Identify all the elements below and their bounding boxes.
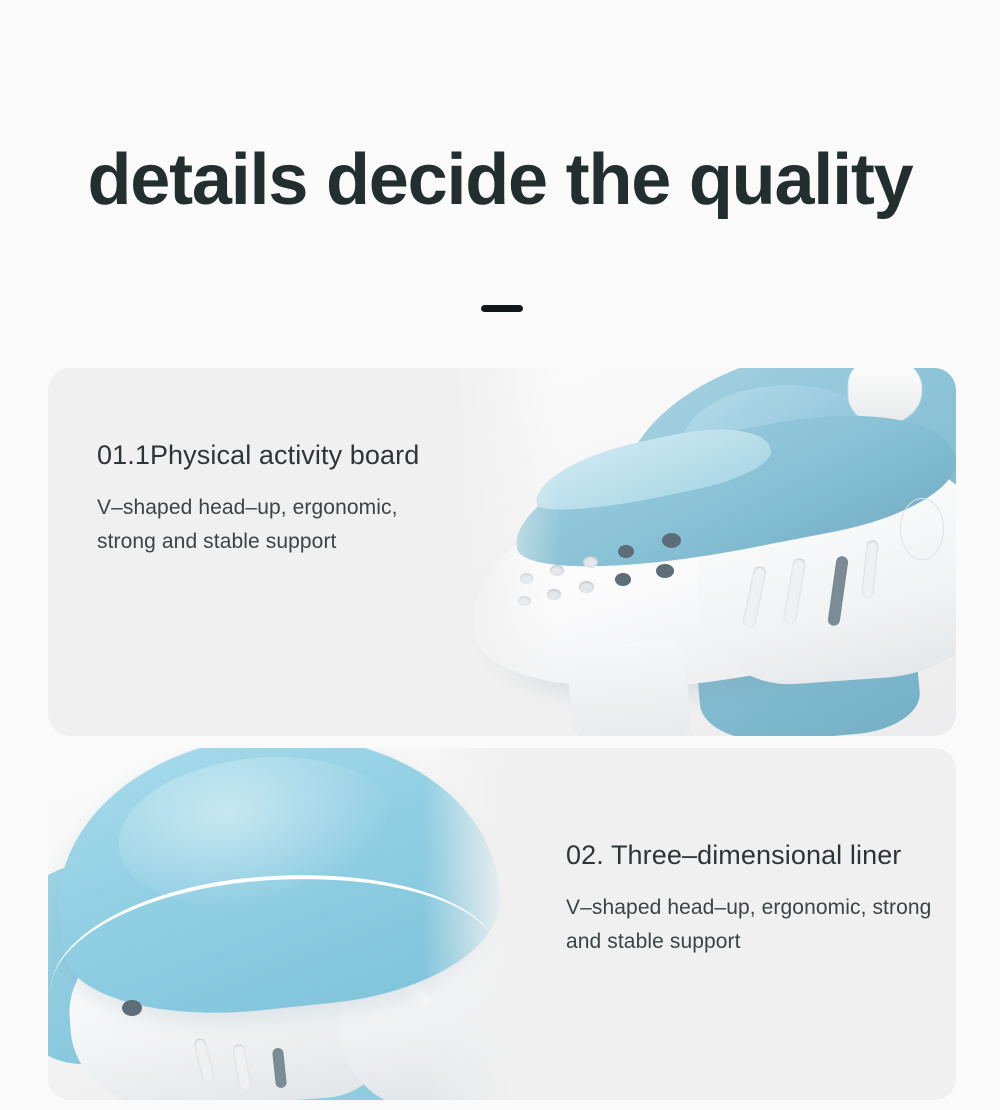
frame-perforation [122,1000,142,1016]
product-image-three-dimensional-liner [48,748,518,1100]
product-image-activity-board [448,368,956,736]
board-perforation [618,545,634,558]
board-perforation [615,573,631,586]
title-divider [481,305,523,312]
board-perforation [550,565,564,576]
board-perforation [656,564,674,578]
board-emblem-outline [900,498,944,560]
board-perforation [583,556,598,568]
board-perforation [520,573,533,584]
product-detail-page: details decide the quality [0,0,1000,1110]
feature-card-01: 01.1Physical activity board V–shaped hea… [48,368,956,736]
feature-card-01-body: V–shaped head–up, ergonomic, strong and … [97,491,427,559]
board-perforation [662,533,681,548]
feature-card-02-body: V–shaped head–up, ergonomic, strong and … [566,891,946,959]
board-perforation [547,589,561,600]
feature-card-01-heading: 01.1Physical activity board [97,437,427,473]
board-support-leg [565,638,693,736]
board-perforation [518,596,531,606]
board-perforation [579,581,594,593]
feature-card-02-heading: 02. Three–dimensional liner [566,837,946,873]
feature-card-01-text: 01.1Physical activity board V–shaped hea… [97,437,427,559]
page-title: details decide the quality [0,144,1000,216]
feature-card-02: 02. Three–dimensional liner V–shaped hea… [48,748,956,1100]
feature-card-02-text: 02. Three–dimensional liner V–shaped hea… [566,837,946,959]
